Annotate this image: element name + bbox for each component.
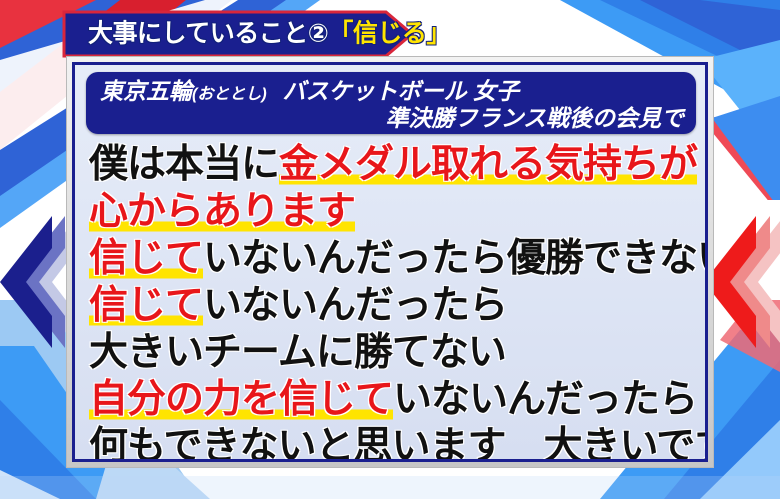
quote-text-block: 僕は本当に金メダル取れる気持ちが心からあります信じていないんだったら優勝できない… <box>89 141 697 462</box>
quote-line: 何もできないと思います 大きいです <box>89 423 697 462</box>
quote-segment: 大きいチームに勝てない <box>89 331 506 374</box>
quote-panel-frame: 東京五輪(おととし)バスケットボール 女子 準決勝フランス戦後の会見で 僕は本当… <box>66 56 714 468</box>
quote-segment: いないんだったら <box>393 378 697 421</box>
bottom-band-light <box>0 476 780 499</box>
subtitle-line-2: 準決勝フランス戦後の会見で <box>385 107 684 130</box>
quote-segment: いないんだったら優勝できない <box>203 237 708 280</box>
quote-line: 信じていないんだったら <box>89 282 697 329</box>
quote-segment-highlighted: 自分の力を信じて <box>89 378 393 422</box>
quote-segment-highlighted: 心からあります <box>89 190 355 234</box>
quote-line: 大きいチームに勝てない <box>89 329 697 376</box>
quote-segment-highlighted: 信じて <box>89 237 203 281</box>
page-title-white: 大事にしていること② <box>88 20 328 48</box>
quote-segment-highlighted: 信じて <box>89 284 203 328</box>
quote-line: 信じていないんだったら優勝できない <box>89 235 697 282</box>
subtitle-box: 東京五輪(おととし)バスケットボール 女子 準決勝フランス戦後の会見で <box>86 72 696 134</box>
quote-segment-highlighted: 金メダル取れる気持ちが <box>279 143 697 187</box>
quote-line: 心からあります <box>89 188 697 235</box>
page-title-yellow: 「信じる」 <box>328 20 451 48</box>
page-title: 大事にしていること②「信じる」 <box>88 22 451 47</box>
subtitle-year-note: (おととし) <box>192 86 267 103</box>
quote-line: 僕は本当に金メダル取れる気持ちが <box>89 141 697 188</box>
quote-segment: 何もできないと思います <box>89 425 505 462</box>
subtitle-line-1: 東京五輪(おととし)バスケットボール 女子 <box>100 80 519 103</box>
subtitle-sport: バスケットボール 女子 <box>283 78 519 104</box>
quote-segment: 大きいです <box>505 425 708 462</box>
title-banner: 大事にしていること②「信じる」 <box>62 10 414 58</box>
quote-panel: 東京五輪(おととし)バスケットボール 女子 準決勝フランス戦後の会見で 僕は本当… <box>72 62 708 462</box>
quote-segment: 僕は本当に <box>89 143 279 186</box>
quote-line: 自分の力を信じていないんだったら <box>89 376 697 423</box>
quote-segment: いないんだったら <box>203 284 507 327</box>
subtitle-event: 東京五輪 <box>100 78 192 104</box>
broadcast-graphic-stage: 大事にしていること②「信じる」 東京五輪(おととし)バスケットボール 女子 準決… <box>0 0 780 499</box>
